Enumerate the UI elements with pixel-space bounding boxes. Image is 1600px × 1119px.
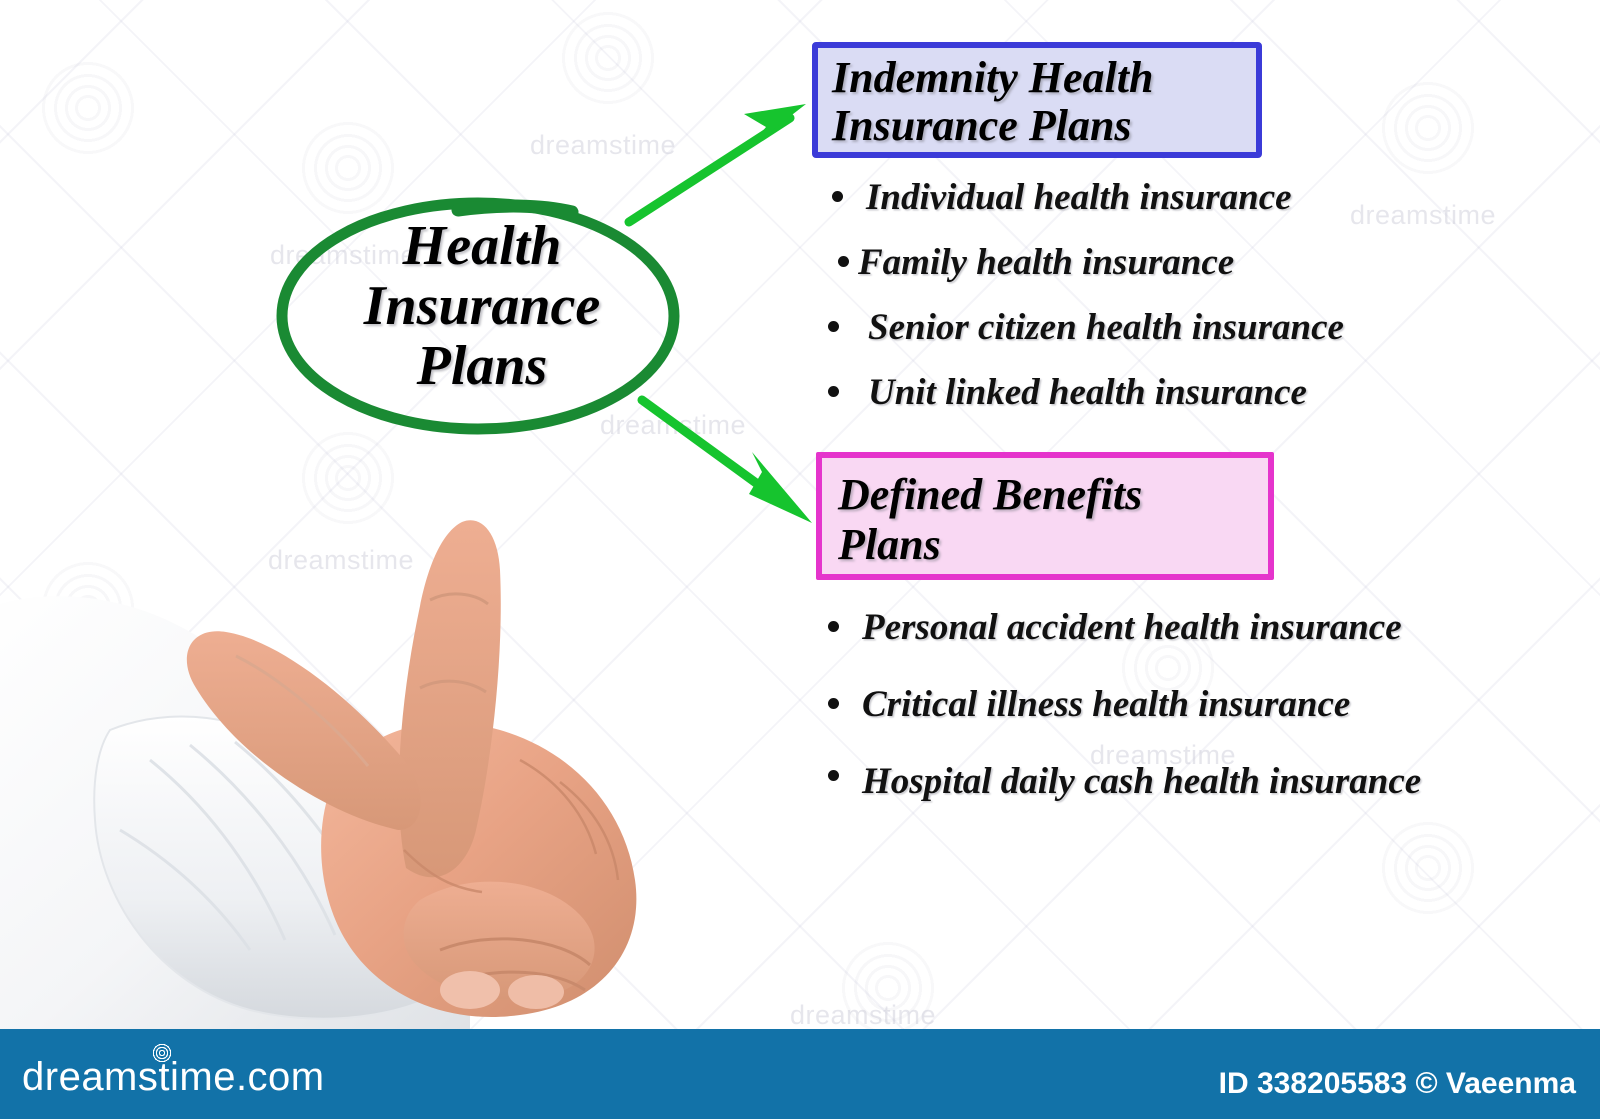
node-box-defined-benefits-plans[interactable]: Defined Benefits Plans (816, 452, 1274, 580)
center-node-label-line1: Health (272, 216, 692, 276)
bullet-dot-icon (838, 256, 849, 267)
center-node-label: Health Insurance Plans (272, 216, 692, 396)
fingernail (440, 971, 500, 1009)
list-item-label: Critical illness health insurance (828, 685, 1350, 725)
bullet-dot-icon (828, 621, 839, 632)
list-item-label: Family health insurance (832, 243, 1234, 283)
list-item-label: Hospital daily cash health insurance (828, 762, 1421, 802)
defined-title-line1: Defined Benefits (838, 470, 1268, 520)
list-item: Hospital daily cash health insurance (828, 762, 1421, 802)
bullet-dot-icon (828, 321, 839, 332)
indemnity-title-line2: Insurance Plans (832, 102, 1256, 150)
indemnity-title-line1: Indemnity Health (832, 54, 1256, 102)
center-node-label-line3: Plans (272, 336, 692, 396)
list-item: Critical illness health insurance (828, 685, 1421, 725)
list-item: Individual health insurance (832, 178, 1344, 218)
bullet-dot-icon (828, 770, 839, 781)
hand-pointing-illustration (0, 430, 660, 1030)
bullet-dot-icon (832, 191, 843, 202)
node-box-indemnity-title: Indemnity Health Insurance Plans (818, 48, 1256, 150)
list-item-label: Senior citizen health insurance (832, 308, 1344, 348)
screenshot-canvas: dreamstime dreamstime dreamstime dreamst… (0, 0, 1600, 1119)
defined-title-line2: Plans (838, 520, 1268, 570)
list-item: Personal accident health insurance (828, 608, 1421, 648)
center-node-label-line2: Insurance (272, 276, 692, 336)
list-item: Unit linked health insurance (832, 373, 1344, 413)
node-box-defined-benefits-title: Defined Benefits Plans (822, 458, 1268, 570)
stock-photo-footer: dreamstime.com ID 338205583 © Vaeenma (0, 1029, 1600, 1119)
list-item-label: Personal accident health insurance (828, 608, 1402, 648)
bullet-dot-icon (828, 698, 839, 709)
dreamstime-logo[interactable]: dreamstime.com (22, 1055, 325, 1100)
bullet-dot-icon (828, 386, 839, 397)
list-item-label: Unit linked health insurance (832, 373, 1307, 413)
fingernail (508, 975, 564, 1009)
list-item: Senior citizen health insurance (832, 308, 1344, 348)
list-item: Family health insurance (832, 243, 1344, 283)
list-item-label: Individual health insurance (832, 178, 1292, 218)
bullet-list-indemnity: Individual health insurance Family healt… (832, 178, 1344, 438)
center-node-health-insurance-plans: Health Insurance Plans (272, 192, 692, 440)
image-credit: ID 338205583 © Vaeenma (1219, 1067, 1576, 1101)
node-box-indemnity-health-insurance-plans[interactable]: Indemnity Health Insurance Plans (812, 42, 1262, 158)
bullet-list-defined-benefits: Personal accident health insurance Criti… (828, 608, 1421, 839)
